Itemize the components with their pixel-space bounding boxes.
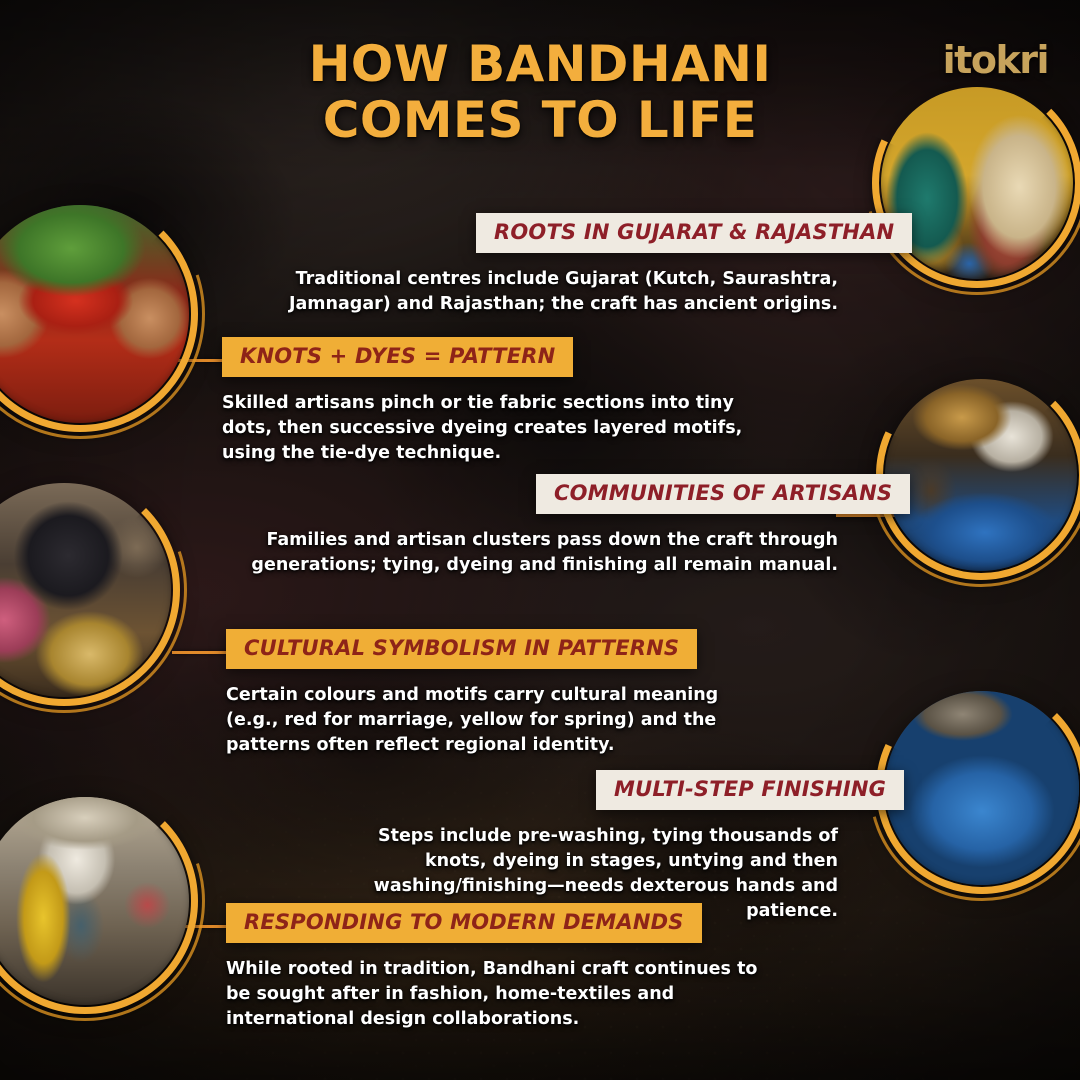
photo-disc [0, 483, 171, 697]
title-line-1: HOW BANDHANI [0, 36, 1080, 92]
photo-artisan-yellow-fabric [0, 788, 198, 1014]
photo-hands-tying-red-fabric [0, 196, 198, 432]
connector-line-symbolism [172, 651, 230, 654]
photo-seated-artisan-woman [0, 474, 180, 706]
section-heading-symbolism: CULTURAL SYMBOLISM IN PATTERNS [226, 629, 697, 669]
itokri-logo[interactable]: itokri [943, 38, 1048, 82]
section-modern-demands: RESPONDING TO MODERN DEMANDS While roote… [226, 903, 786, 1032]
section-body-communities: Families and artisan clusters pass down … [236, 528, 838, 578]
section-communities: COMMUNITIES OF ARTISANS Families and art… [236, 474, 838, 578]
section-symbolism: CULTURAL SYMBOLISM IN PATTERNS Certain c… [226, 629, 766, 758]
section-body-symbolism: Certain colours and motifs carry cultura… [226, 683, 766, 758]
section-heading-finishing: MULTI-STEP FINISHING [596, 770, 904, 810]
photo-blue-dye-vat [876, 682, 1080, 894]
infographic-poster: itokri HOW BANDHANI COMES TO LIFE [0, 0, 1080, 1080]
section-roots: ROOTS IN GUJARAT & RAJASTHAN Traditional… [258, 213, 838, 317]
photo-disc [885, 379, 1077, 571]
section-body-roots: Traditional centres include Gujarat (Kut… [258, 267, 838, 317]
photo-disc [0, 797, 189, 1005]
photo-disc [885, 691, 1079, 885]
section-heading-knots-dyes: KNOTS + DYES = PATTERN [222, 337, 573, 377]
logo-text: itokri [943, 38, 1048, 82]
page-title: HOW BANDHANI COMES TO LIFE [0, 36, 1080, 148]
section-body-modern-demands: While rooted in tradition, Bandhani craf… [226, 957, 786, 1032]
section-body-knots-dyes: Skilled artisans pinch or tie fabric sec… [222, 391, 762, 466]
title-line-2: COMES TO LIFE [0, 92, 1080, 148]
section-heading-roots: ROOTS IN GUJARAT & RAJASTHAN [476, 213, 912, 253]
section-heading-modern-demands: RESPONDING TO MODERN DEMANDS [226, 903, 702, 943]
section-finishing: MULTI-STEP FINISHING Steps include pre-w… [318, 770, 838, 923]
photo-disc [0, 205, 189, 423]
section-heading-communities: COMMUNITIES OF ARTISANS [536, 474, 910, 514]
section-knots-dyes: KNOTS + DYES = PATTERN Skilled artisans … [222, 337, 762, 466]
